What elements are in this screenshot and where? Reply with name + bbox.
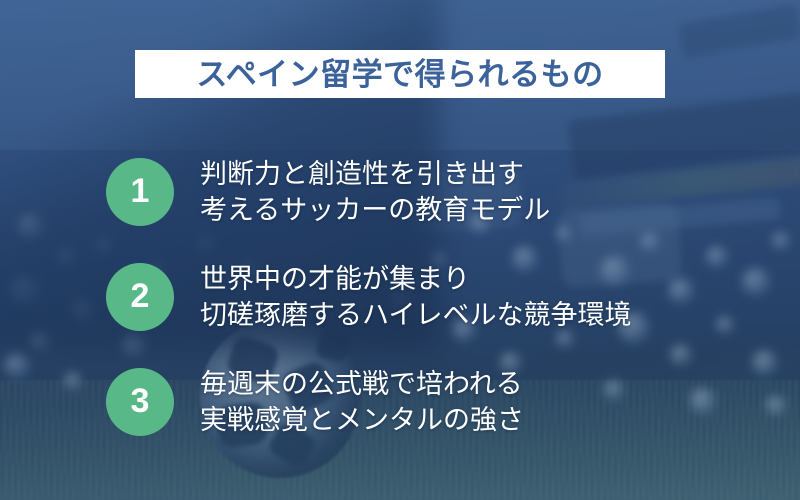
list-item-number-badge: 1 — [106, 158, 174, 226]
benefits-list: 1 判断力と創造性を引き出す 考えるサッカーの教育モデル 2 世界中の才能が集ま… — [0, 150, 800, 465]
list-item-number-badge: 3 — [106, 368, 174, 436]
title-banner: スペイン留学で得られるもの — [135, 50, 665, 98]
list-item-line-1: 世界中の才能が集まり — [200, 261, 631, 297]
list-item-number-badge: 2 — [106, 263, 174, 331]
slide-root: スペイン留学で得られるもの 1 判断力と創造性を引き出す 考えるサッカーの教育モ… — [0, 0, 800, 500]
list-item-line-1: 毎週末の公式戦で培われる — [200, 366, 524, 402]
list-item-line-2: 実戦感覚とメンタルの強さ — [200, 402, 524, 438]
list-item-number: 2 — [131, 279, 150, 313]
list-item-line-2: 考えるサッカーの教育モデル — [200, 192, 550, 228]
list-item-line-1: 判断力と創造性を引き出す — [200, 156, 550, 192]
slide-content: スペイン留学で得られるもの 1 判断力と創造性を引き出す 考えるサッカーの教育モ… — [0, 0, 800, 500]
list-item: 3 毎週末の公式戦で培われる 実戦感覚とメンタルの強さ — [0, 360, 800, 465]
list-item-text: 毎週末の公式戦で培われる 実戦感覚とメンタルの強さ — [200, 366, 524, 438]
page-title: スペイン留学で得られるもの — [196, 59, 603, 90]
list-item-text: 世界中の才能が集まり 切磋琢磨するハイレベルな競争環境 — [200, 261, 631, 333]
list-item-line-2: 切磋琢磨するハイレベルな競争環境 — [200, 297, 631, 333]
list-item: 1 判断力と創造性を引き出す 考えるサッカーの教育モデル — [0, 150, 800, 255]
list-item-text: 判断力と創造性を引き出す 考えるサッカーの教育モデル — [200, 156, 550, 228]
list-item: 2 世界中の才能が集まり 切磋琢磨するハイレベルな競争環境 — [0, 255, 800, 360]
list-item-number: 3 — [131, 384, 150, 418]
list-item-number: 1 — [131, 174, 150, 208]
